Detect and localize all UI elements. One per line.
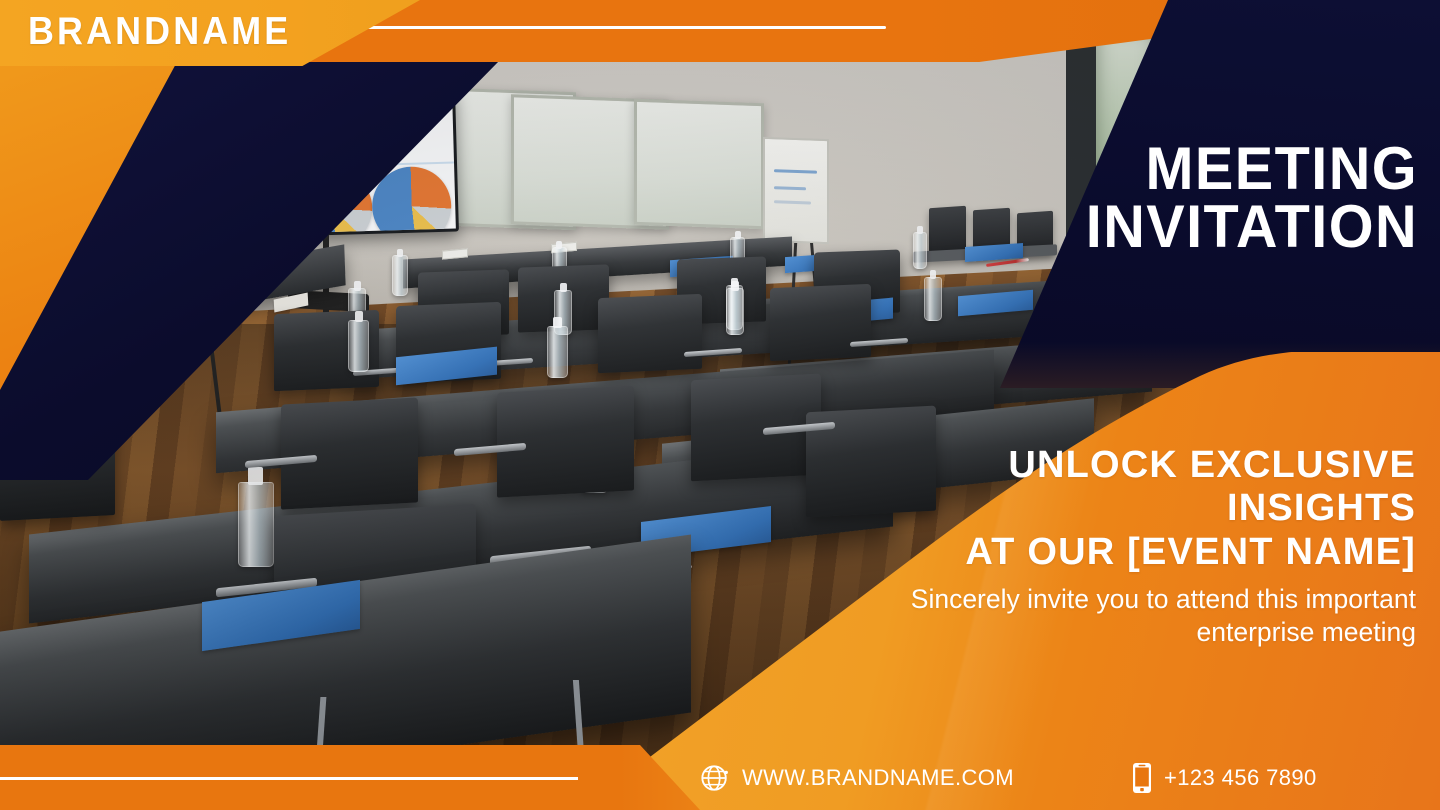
phone-contact[interactable]: +123 456 7890: [1132, 762, 1317, 794]
title-line-1: MEETING: [1146, 135, 1418, 202]
globe-icon: [700, 763, 730, 793]
title-line-2: INVITATION: [919, 198, 1418, 256]
headline-line-2: AT OUR [EVENT NAME]: [816, 531, 1416, 574]
subtitle-line-2: enterprise meeting: [806, 616, 1416, 649]
phone-icon: [1132, 762, 1152, 794]
footer-contacts: WWW.BRANDNAME.COM +123 456 7890: [690, 745, 1440, 810]
invitation-poster: BRANDNAME MEETING INVITATION UNLOCK EXCL…: [0, 0, 1440, 810]
brand-name: BRANDNAME: [28, 10, 291, 54]
website-text: WWW.BRANDNAME.COM: [742, 765, 1014, 791]
footer-rule-icon: [0, 777, 578, 780]
headline-line-1: UNLOCK EXCLUSIVE INSIGHTS: [1008, 444, 1416, 529]
header-rule-icon: [353, 26, 886, 29]
website-contact[interactable]: WWW.BRANDNAME.COM: [700, 763, 1014, 793]
headline: UNLOCK EXCLUSIVE INSIGHTS AT OUR [EVENT …: [816, 444, 1416, 574]
subtitle-line-1: Sincerely invite you to attend this impo…: [911, 584, 1416, 614]
phone-text: +123 456 7890: [1164, 765, 1317, 791]
subtitle: Sincerely invite you to attend this impo…: [806, 583, 1416, 650]
page-title: MEETING INVITATION: [919, 140, 1418, 255]
